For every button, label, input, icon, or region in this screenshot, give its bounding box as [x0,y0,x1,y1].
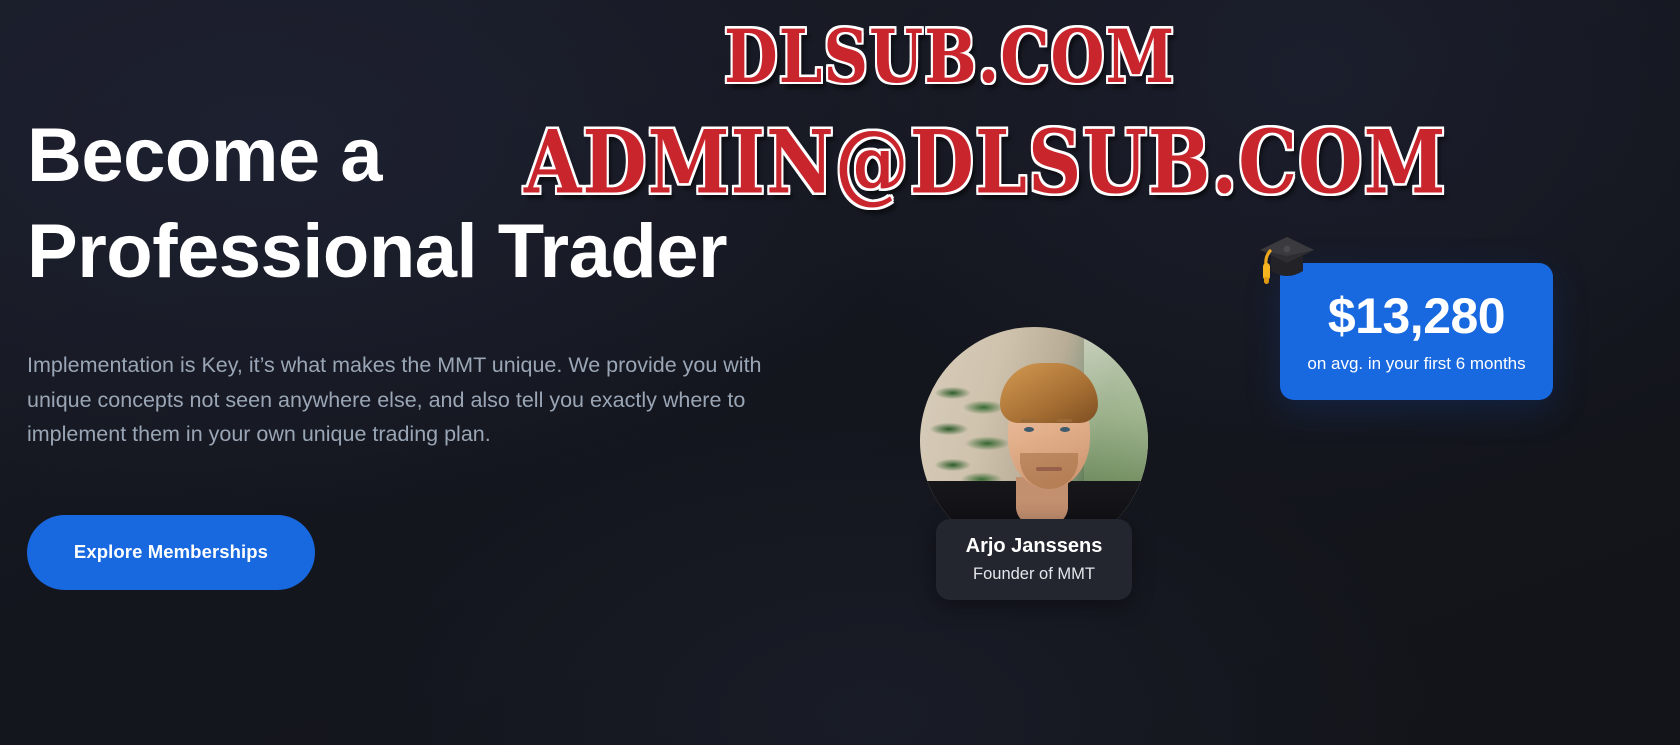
watermark-email: ADMIN@DLSUB.COM [524,112,1447,213]
avatar-hair [1000,363,1098,423]
avatar-eyebrow-right [1057,419,1072,422]
earnings-stat-badge: $13,280 on avg. in your first 6 months [1280,263,1553,400]
founder-role: Founder of MMT [946,563,1122,585]
hero-section: Become a Professional Trader Implementat… [0,0,1680,745]
stat-caption: on avg. in your first 6 months [1303,353,1531,375]
avatar-eye-right [1060,427,1070,432]
founder-block: Arjo Janssens Founder of MMT [920,327,1148,555]
watermark-site: DLSUB.COM [724,13,1175,99]
avatar-mouth [1036,467,1062,471]
explore-memberships-button[interactable]: Explore Memberships [27,515,315,590]
founder-name-card: Arjo Janssens Founder of MMT [936,519,1132,600]
avatar-eyebrow-left [1021,419,1036,422]
avatar-eye-left [1024,427,1034,432]
founder-name: Arjo Janssens [946,533,1122,559]
hero-description: Implementation is Key, it’s what makes t… [27,348,802,452]
stat-amount: $13,280 [1328,288,1505,344]
graduation-cap-icon [1257,231,1317,289]
